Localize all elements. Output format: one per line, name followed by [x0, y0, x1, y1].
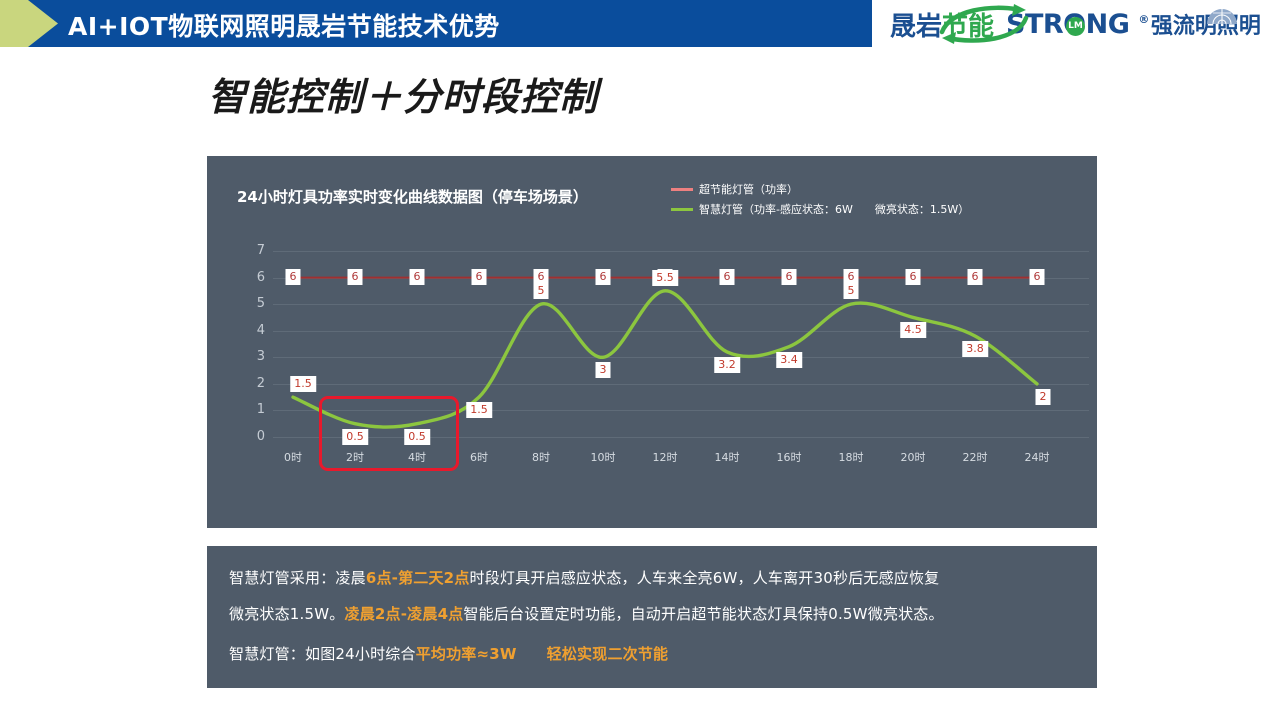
registered-mark-icon: ® [1138, 13, 1149, 26]
data-point-label: 1.5 [466, 402, 492, 418]
data-point-label: 6 [410, 269, 425, 285]
data-point-label: 6 [348, 269, 363, 285]
note-text: 智慧灯管采用：凌晨 [229, 569, 366, 587]
data-point-label: 3.8 [962, 341, 988, 357]
chart-panel: 24小时灯具功率实时变化曲线数据图（停车场场景） 超节能灯管（功率） 智慧灯管（… [207, 156, 1097, 528]
data-point-label: 5 [534, 283, 549, 299]
legend-label-super-saving: 超节能灯管（功率） [699, 181, 798, 197]
data-point-label: 6 [720, 269, 735, 285]
series-line-1 [293, 291, 1037, 427]
fan-arc-icon [1205, 8, 1239, 24]
note-text: 时段灯具开启感应状态，人车来全亮6W，人车离开30秒后无感应恢复 [470, 569, 940, 587]
page-title: AI+IOT物联网照明晟岩节能技术优势 [68, 7, 500, 43]
note-highlight-text: 轻松实现二次节能 [547, 645, 669, 663]
data-point-label: 5.5 [652, 270, 678, 286]
note-line-2: 微亮状态1.5W。凌晨2点-凌晨4点智能后台设置定时功能，自动开启超节能状态灯具… [229, 603, 944, 624]
data-point-label: 0.5 [342, 429, 368, 445]
data-point-label: 0.5 [404, 429, 430, 445]
data-point-label: 6 [1030, 269, 1045, 285]
data-point-label: 3 [596, 362, 611, 378]
note-text: 智慧灯管：如图24小时综合 [229, 645, 416, 663]
brand-logo-panel: 晟岩节能 STRONG LM ® 强流明照明 [872, 0, 1280, 47]
logo-cn-green: 节能 [942, 12, 994, 42]
data-point-label: 4.5 [900, 322, 926, 338]
data-point-label: 1.5 [290, 376, 316, 392]
note-line-3: 智慧灯管：如图24小时综合平均功率≈3W轻松实现二次节能 [229, 643, 668, 664]
note-highlight-text: 6点-第二天2点 [366, 569, 470, 587]
legend-swatch-green [671, 208, 693, 211]
note-highlight-text: 平均功率≈3W [416, 645, 517, 663]
logo-lm-badge: LM [1066, 17, 1085, 36]
data-point-label: 6 [782, 269, 797, 285]
data-point-label: 6 [596, 269, 611, 285]
logo-chinese-name: 晟岩节能 [890, 6, 994, 43]
data-point-label: 6 [968, 269, 983, 285]
data-point-label: 3.2 [714, 357, 740, 373]
data-point-label: 2 [1036, 389, 1051, 405]
data-point-label: 6 [286, 269, 301, 285]
legend-item-smart: 智慧灯管（功率-感应状态：6W 微亮状态：1.5W） [671, 199, 1071, 219]
logo-row: 晟岩节能 STRONG LM ® 强流明照明 [890, 4, 1261, 44]
logo-cn-dark: 晟岩 [890, 12, 942, 42]
chart-legend: 超节能灯管（功率） 智慧灯管（功率-感应状态：6W 微亮状态：1.5W） [671, 179, 1071, 219]
header-banner: AI+IOT物联网照明晟岩节能技术优势 晟岩节能 STRONG LM ® [0, 0, 1280, 47]
legend-item-super-saving: 超节能灯管（功率） [671, 179, 1071, 199]
plot-area: 01234567 0时2时4时6时8时10时12时14时16时18时20时22时… [237, 241, 1077, 471]
legend-swatch-red [671, 188, 693, 191]
note-text: 智能后台设置定时功能，自动开启超节能状态灯具保持0.5W微亮状态。 [463, 605, 943, 623]
note-text: 微亮状态1.5W。 [229, 605, 345, 623]
chart-title: 24小时灯具功率实时变化曲线数据图（停车场场景） [237, 186, 588, 207]
data-point-label: 3.4 [776, 352, 802, 368]
logo-strong-wordmark: STRONG LM ® [1006, 9, 1149, 40]
note-highlight-text: 凌晨2点-凌晨4点 [345, 605, 464, 623]
data-point-label: 5 [844, 283, 859, 299]
data-point-label: 6 [472, 269, 487, 285]
legend-label-smart: 智慧灯管（功率-感应状态：6W [699, 201, 853, 217]
note-panel: 智慧灯管采用：凌晨6点-第二天2点时段灯具开启感应状态，人车来全亮6W，人车离开… [207, 546, 1097, 688]
section-title: 智能控制＋分时段控制 [208, 66, 598, 121]
data-point-label: 6 [906, 269, 921, 285]
note-line-1: 智慧灯管采用：凌晨6点-第二天2点时段灯具开启感应状态，人车来全亮6W，人车离开… [229, 567, 939, 588]
legend-label-smart-dim: 微亮状态：1.5W） [875, 201, 969, 217]
